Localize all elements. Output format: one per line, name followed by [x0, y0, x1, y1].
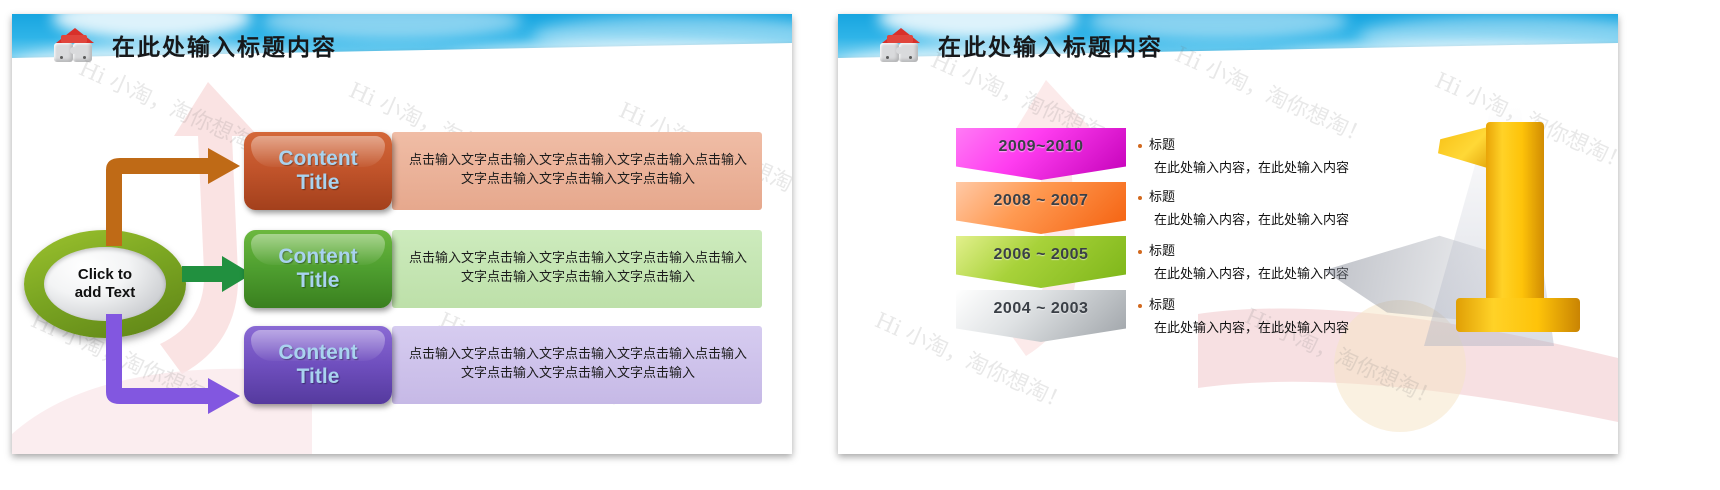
hub-circle-inner: Click to add Text: [44, 247, 166, 321]
elbow-arrow-row1: [96, 142, 246, 252]
timeline-period-1: 2009~2010: [956, 138, 1126, 156]
content-row-1[interactable]: 点击输入文字点击输入文字点击输入文字点击输入点击输入文字点击输入文字点击输入文字…: [244, 132, 764, 210]
title-line1: Content: [278, 245, 357, 268]
bullet-dot-icon: [1138, 250, 1142, 254]
timeline-chevron-3[interactable]: 2006 ~ 2005: [956, 236, 1126, 298]
timeline-bullet-1: 标题 在此处输入内容，在此处输入内容: [1138, 134, 1349, 176]
timeline-bullet-2: 标题 在此处输入内容，在此处输入内容: [1138, 186, 1349, 228]
title-line1: Content: [278, 147, 357, 170]
content-panel-2: 点击输入文字点击输入文字点击输入文字点击输入点击输入文字点击输入文字点击输入文字…: [392, 230, 762, 308]
timeline-period-3: 2006 ~ 2005: [956, 246, 1126, 264]
timeline-bullet-4: 标题 在此处输入内容，在此处输入内容: [1138, 294, 1349, 336]
hub-circle-label: Click to add Text: [75, 266, 136, 301]
bullet-title-2: 标题: [1138, 186, 1349, 205]
slide-left[interactable]: 在此处输入标题内容 Hi 小淘，淘你想淘！ Hi 小淘，淘你想淘！ Hi 小淘，…: [12, 14, 792, 454]
numeral-base: [1456, 298, 1580, 332]
content-body-2: 点击输入文字点击输入文字点击输入文字点击输入点击输入文字点击输入文字点击输入文字…: [406, 250, 750, 288]
content-title-3: Content Title: [278, 341, 357, 390]
page-title: 在此处输入标题内容: [938, 28, 1163, 62]
puzzle-house-icon: [878, 28, 922, 66]
puzzle-house-icon: [52, 28, 96, 66]
bullet-title-1: 标题: [1138, 134, 1349, 153]
content-row-3[interactable]: 点击输入文字点击输入文字点击输入文字点击输入点击输入文字点击输入文字点击输入文字…: [244, 326, 764, 404]
content-panel-1: 点击输入文字点击输入文字点击输入文字点击输入点击输入文字点击输入文字点击输入文字…: [392, 132, 762, 210]
content-title-2: Content Title: [278, 245, 357, 294]
timeline-bullet-3: 标题 在此处输入内容，在此处输入内容: [1138, 240, 1349, 282]
timeline-period-2: 2008 ~ 2007: [956, 192, 1126, 210]
timeline-chevron-4[interactable]: 2004 ~ 2003: [956, 290, 1126, 352]
title-line2: Title: [297, 269, 340, 292]
title-line2: Title: [297, 171, 340, 194]
title-line2: Title: [297, 365, 340, 388]
content-title-box-1[interactable]: Content Title: [244, 132, 392, 210]
golden-numeral-one: [1414, 112, 1604, 342]
content-body-1: 点击输入文字点击输入文字点击输入文字点击输入点击输入文字点击输入文字点击输入文字…: [406, 152, 750, 190]
bullet-body-2: 在此处输入内容，在此处输入内容: [1154, 209, 1349, 228]
content-body-3: 点击输入文字点击输入文字点击输入文字点击输入点击输入文字点击输入文字点击输入文字…: [406, 346, 750, 384]
bullet-title-3: 标题: [1138, 240, 1349, 259]
title-line1: Content: [278, 341, 357, 364]
page-title: 在此处输入标题内容: [112, 28, 337, 62]
content-panel-3: 点击输入文字点击输入文字点击输入文字点击输入点击输入文字点击输入文字点击输入文字…: [392, 326, 762, 404]
bullet-title-4: 标题: [1138, 294, 1349, 313]
hub-label-line2: add Text: [75, 284, 136, 301]
slide-right[interactable]: 在此处输入标题内容 Hi 小淘，淘你想淘！ Hi 小淘，淘你想淘！ Hi 小淘，…: [838, 14, 1618, 454]
bullet-dot-icon: [1138, 304, 1142, 308]
timeline-chevron-2[interactable]: 2008 ~ 2007: [956, 182, 1126, 244]
hub-label-line1: Click to: [78, 266, 132, 283]
bullet-body-1: 在此处输入内容，在此处输入内容: [1154, 157, 1349, 176]
content-title-box-3[interactable]: Content Title: [244, 326, 392, 404]
content-title-1: Content Title: [278, 147, 357, 196]
content-row-2[interactable]: 点击输入文字点击输入文字点击输入文字点击输入点击输入文字点击输入文字点击输入文字…: [244, 230, 764, 308]
numeral-stem: [1486, 122, 1544, 304]
bullet-dot-icon: [1138, 144, 1142, 148]
bullet-dot-icon: [1138, 196, 1142, 200]
timeline-chevron-1[interactable]: 2009~2010: [956, 128, 1126, 190]
content-title-box-2[interactable]: Content Title: [244, 230, 392, 308]
bullet-body-4: 在此处输入内容，在此处输入内容: [1154, 317, 1349, 336]
timeline-period-4: 2004 ~ 2003: [956, 300, 1126, 318]
bullet-body-3: 在此处输入内容，在此处输入内容: [1154, 263, 1349, 282]
elbow-arrow-row3: [96, 314, 246, 424]
slide-deck: 在此处输入标题内容 Hi 小淘，淘你想淘！ Hi 小淘，淘你想淘！ Hi 小淘，…: [0, 0, 1720, 490]
